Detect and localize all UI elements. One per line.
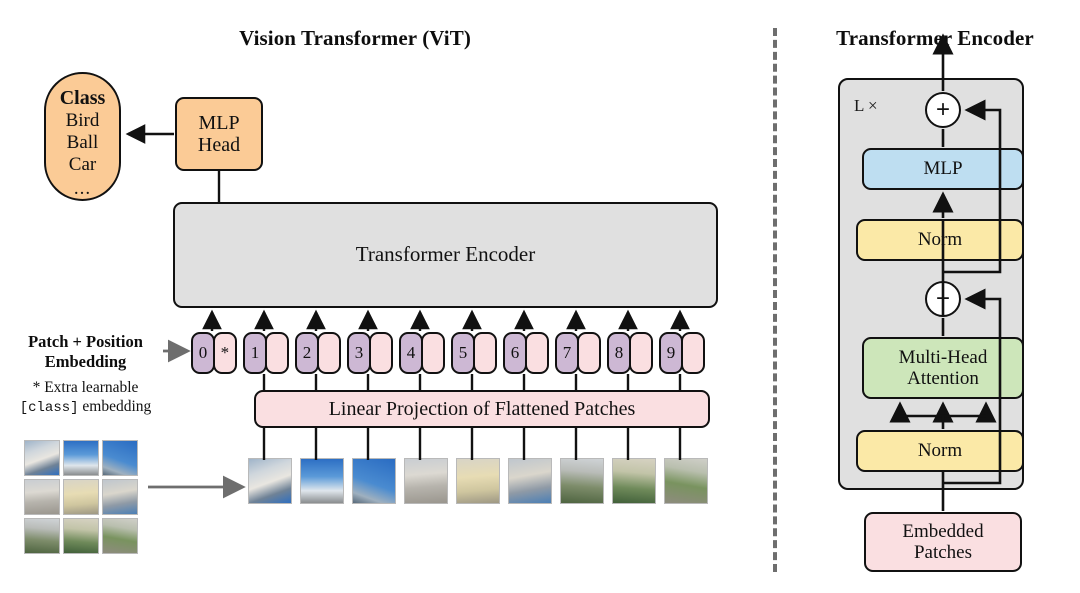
token-2: 2 [295,332,341,374]
encoder-norm-bottom-block: Norm [856,430,1024,472]
flattened-patch-7 [560,458,604,504]
token-embed-pill-3 [369,332,393,374]
left-panel-title: Vision Transformer (ViT) [195,26,515,51]
transformer-encoder-box: Transformer Encoder [173,202,718,308]
class-item-car: Car [69,154,96,176]
flattened-patch-2 [300,458,344,504]
encoder-norm-top-block: Norm [856,219,1024,261]
panel-divider [773,28,777,572]
embedded-patches-line2: Patches [914,542,972,563]
embedding-label-line1: Patch + Position [8,332,163,352]
token-7: 7 [555,332,601,374]
token-number-pill-4: 4 [399,332,423,374]
flattened-patch-5 [456,458,500,504]
token-number-pill-8: 8 [607,332,631,374]
flattened-patch-4 [404,458,448,504]
mha-label-line2: Attention [907,368,979,389]
repeat-count-label: L × [854,96,878,116]
class-item-bird: Bird [66,110,100,132]
token-8: 8 [607,332,653,374]
extra-learnable-footnote: * Extra learnable [class] embedding [8,378,163,418]
footnote-line1: * Extra learnable [8,378,163,397]
transformer-encoder-label: Transformer Encoder [356,243,535,267]
source-patch-5 [63,479,99,515]
token-6: 6 [503,332,549,374]
residual-add-bottom: + [925,281,961,317]
residual-add-top: + [925,92,961,128]
flattened-patch-strip [248,458,716,506]
token-3: 3 [347,332,393,374]
class-item-ball: Ball [67,132,99,154]
token-embed-pill-7 [577,332,601,374]
flattened-patch-8 [612,458,656,504]
source-patch-9 [102,518,138,554]
token-5: 5 [451,332,497,374]
token-4: 4 [399,332,445,374]
token-1: 1 [243,332,289,374]
class-ellipsis: ... [74,178,91,200]
embedding-label-line2: Embedding [8,352,163,372]
right-panel-title: Transformer Encoder [790,26,1080,51]
flattened-patch-3 [352,458,396,504]
source-patch-8 [63,518,99,554]
class-output-box: Class Bird Ball Car ... [44,72,121,201]
source-patch-2 [63,440,99,476]
mlp-head-line2: Head [198,134,240,156]
class-box-title: Class [60,87,106,110]
embedded-patches-line1: Embedded [902,521,983,542]
token-embed-pill-5 [473,332,497,374]
mlp-head-box: MLP Head [175,97,263,171]
token-number-pill-3: 3 [347,332,371,374]
token-number-pill-2: 2 [295,332,319,374]
token-embed-pill-4 [421,332,445,374]
encoder-norm-bottom-label: Norm [918,440,962,461]
token-number-pill-5: 5 [451,332,475,374]
mha-label-line1: Multi-Head [899,347,988,368]
mlp-head-line1: MLP [198,112,239,134]
token-number-pill-9: 9 [659,332,683,374]
token-row: 0*123456789 [191,332,711,374]
patch-position-embedding-label: Patch + Position Embedding [8,332,163,372]
token-0: 0* [191,332,237,374]
footnote-line2: [class] embedding [8,397,163,418]
token-number-pill-7: 7 [555,332,579,374]
embedded-patches-block: Embedded Patches [864,512,1022,572]
flattened-patch-9 [664,458,708,504]
flattened-patch-1 [248,458,292,504]
source-patch-4 [24,479,60,515]
encoder-norm-top-label: Norm [918,229,962,250]
token-embed-pill-6 [525,332,549,374]
linear-projection-box: Linear Projection of Flattened Patches [254,390,710,428]
encoder-mlp-block: MLP [862,148,1024,190]
source-patch-1 [24,440,60,476]
source-patch-3 [102,440,138,476]
token-number-pill-0: 0 [191,332,215,374]
token-embed-pill-8 [629,332,653,374]
token-embed-pill-1 [265,332,289,374]
token-number-pill-6: 6 [503,332,527,374]
vit-architecture-figure: Vision Transformer (ViT) Class Bird Ball… [0,0,1080,593]
source-patch-7 [24,518,60,554]
multi-head-attention-block: Multi-Head Attention [862,337,1024,399]
encoder-mlp-label: MLP [923,158,962,179]
token-number-pill-1: 1 [243,332,267,374]
class-token-star-pill: * [213,332,237,374]
token-embed-pill-9 [681,332,705,374]
footnote-tail: embedding [79,398,152,415]
flattened-patch-6 [508,458,552,504]
class-token-mono: [class] [20,400,79,416]
linear-projection-label: Linear Projection of Flattened Patches [329,398,636,420]
source-patch-6 [102,479,138,515]
token-9: 9 [659,332,705,374]
source-image-patch-grid [24,440,141,557]
token-embed-pill-2 [317,332,341,374]
